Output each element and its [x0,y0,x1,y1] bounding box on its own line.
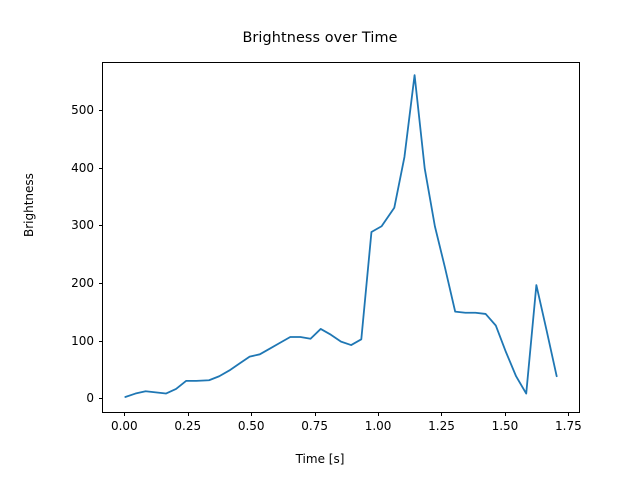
x-tick-label: 0.75 [301,419,328,433]
line-plot-svg [103,63,579,412]
plot-axes [102,62,580,413]
x-tick-label: 0.00 [111,419,138,433]
brightness-line-series [125,75,556,397]
y-tick-label: 200 [52,276,94,290]
y-tick-label: 300 [52,218,94,232]
x-axis-label: Time [s] [0,452,640,466]
x-tick-label: 0.50 [238,419,265,433]
x-tick-label: 1.75 [555,419,582,433]
x-tick-label: 1.00 [365,419,392,433]
y-tick-label: 0 [52,391,94,405]
y-tick-label: 400 [52,161,94,175]
y-axis-label: Brightness [22,173,36,237]
x-tick-label: 1.25 [428,419,455,433]
chart-title: Brightness over Time [0,30,640,46]
y-tick-label: 100 [52,334,94,348]
figure-canvas: Brightness over Time Brightness Time [s]… [0,0,640,480]
y-tick-label: 500 [52,103,94,117]
x-tick-label: 1.50 [492,419,519,433]
x-tick-label: 0.25 [174,419,201,433]
